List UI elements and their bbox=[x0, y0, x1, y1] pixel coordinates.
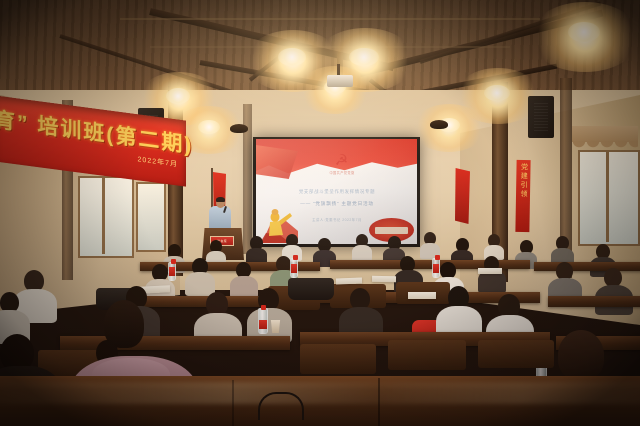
window-valance bbox=[572, 126, 638, 142]
desk-sheen bbox=[0, 382, 640, 404]
ceiling-light-core bbox=[484, 85, 510, 101]
chair bbox=[478, 340, 554, 368]
torso bbox=[185, 272, 215, 296]
hammer-and-sickle-icon: ☭ bbox=[333, 153, 350, 169]
desk-row bbox=[548, 296, 640, 307]
window-left bbox=[78, 176, 134, 258]
ceiling-conduit bbox=[150, 46, 510, 48]
ceiling-conduit bbox=[120, 18, 540, 20]
wall-speaker-right bbox=[528, 96, 554, 138]
head bbox=[558, 330, 604, 380]
window-right bbox=[578, 150, 640, 246]
bottle-label bbox=[259, 320, 267, 329]
water-bottle bbox=[290, 258, 298, 278]
desk-seam bbox=[378, 378, 380, 426]
party-flag-right bbox=[455, 168, 470, 224]
window-far bbox=[136, 182, 166, 252]
ceiling-light-core bbox=[278, 48, 306, 66]
slide-badge-bar bbox=[375, 227, 408, 234]
foreground-desk bbox=[0, 376, 640, 426]
ceiling-light-core bbox=[568, 22, 600, 42]
bottle-label bbox=[291, 264, 297, 273]
water-bottle bbox=[258, 308, 268, 334]
desk-row bbox=[60, 336, 290, 350]
bottle-label bbox=[433, 264, 439, 273]
chair bbox=[388, 340, 466, 370]
ceiling-light-core bbox=[349, 48, 379, 66]
vertical-red-banner: 党建引领 bbox=[515, 160, 530, 232]
downlight-fixture bbox=[430, 120, 448, 129]
water-bottle bbox=[168, 262, 176, 281]
projection-screen: ☭ 中国共产党党徽 党支部战斗堡垒作用发挥情况专题 —— “党旗飘扬” 主题党日… bbox=[256, 139, 417, 244]
photograph-scene: ☭ 中国共产党党徽 党支部战斗堡垒作用发挥情况专题 —— “党旗飘扬” 主题党日… bbox=[0, 0, 640, 426]
torso bbox=[230, 276, 258, 298]
desk-seam bbox=[232, 380, 234, 426]
ceiling-light-core bbox=[198, 120, 220, 134]
bag-handle bbox=[258, 392, 304, 420]
downlight-fixture bbox=[230, 124, 248, 133]
document-on-desk bbox=[336, 278, 362, 285]
backpack-on-desk bbox=[288, 278, 334, 300]
projector bbox=[327, 75, 353, 87]
vertical-banner-text: 党建引领 bbox=[516, 160, 531, 199]
slide-emblem-caption: 中国共产党党徽 bbox=[314, 170, 370, 175]
document-on-desk bbox=[372, 276, 396, 282]
window-mullion bbox=[102, 176, 105, 254]
document-on-desk bbox=[408, 292, 436, 299]
bottle-label bbox=[169, 267, 175, 276]
slide-title: 党支部战斗堡垒作用发挥情况专题 bbox=[272, 189, 402, 195]
torso bbox=[352, 245, 372, 261]
water-bottle bbox=[432, 258, 440, 278]
ceiling-light-core bbox=[166, 88, 190, 104]
desk-row bbox=[534, 262, 640, 271]
chair bbox=[300, 344, 376, 374]
window-mullion bbox=[606, 150, 609, 242]
document-on-desk bbox=[478, 268, 502, 274]
presenter-hair bbox=[216, 197, 225, 202]
